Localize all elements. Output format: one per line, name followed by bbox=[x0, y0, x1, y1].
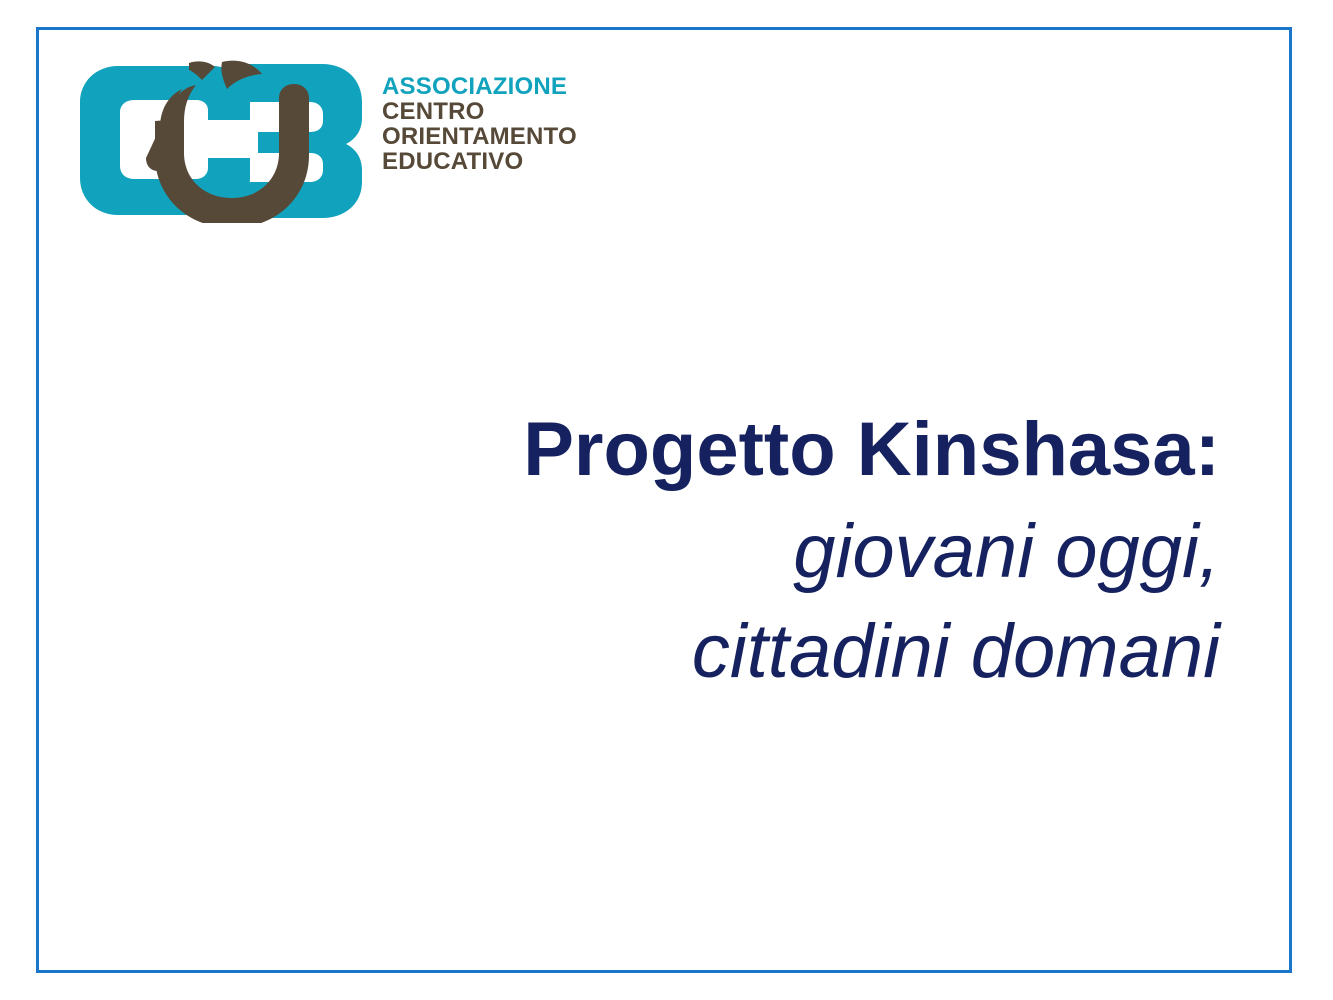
presentation-slide: ASSOCIAZIONE CENTRO ORIENTAMENTO EDUCATI… bbox=[0, 0, 1333, 1000]
organization-logo: ASSOCIAZIONE CENTRO ORIENTAMENTO EDUCATI… bbox=[62, 58, 592, 223]
slide-subtitle-line-1: giovani oggi, bbox=[330, 502, 1220, 602]
slide-title-main: Progetto Kinshasa: bbox=[330, 398, 1220, 502]
logo-wordmark: ASSOCIAZIONE CENTRO ORIENTAMENTO EDUCATI… bbox=[382, 74, 597, 174]
logo-wordmark-line-educativo: EDUCATIVO bbox=[382, 149, 597, 174]
logo-wordmark-line-centro: CENTRO bbox=[382, 99, 597, 124]
slide-title-block: Progetto Kinshasa: giovani oggi, cittadi… bbox=[330, 398, 1220, 702]
coe-logo-mark-icon bbox=[62, 58, 374, 223]
logo-wordmark-line-orientamento: ORIENTAMENTO bbox=[382, 124, 597, 149]
logo-wordmark-line-associazione: ASSOCIAZIONE bbox=[382, 74, 597, 99]
slide-subtitle-line-2: cittadini domani bbox=[330, 602, 1220, 702]
